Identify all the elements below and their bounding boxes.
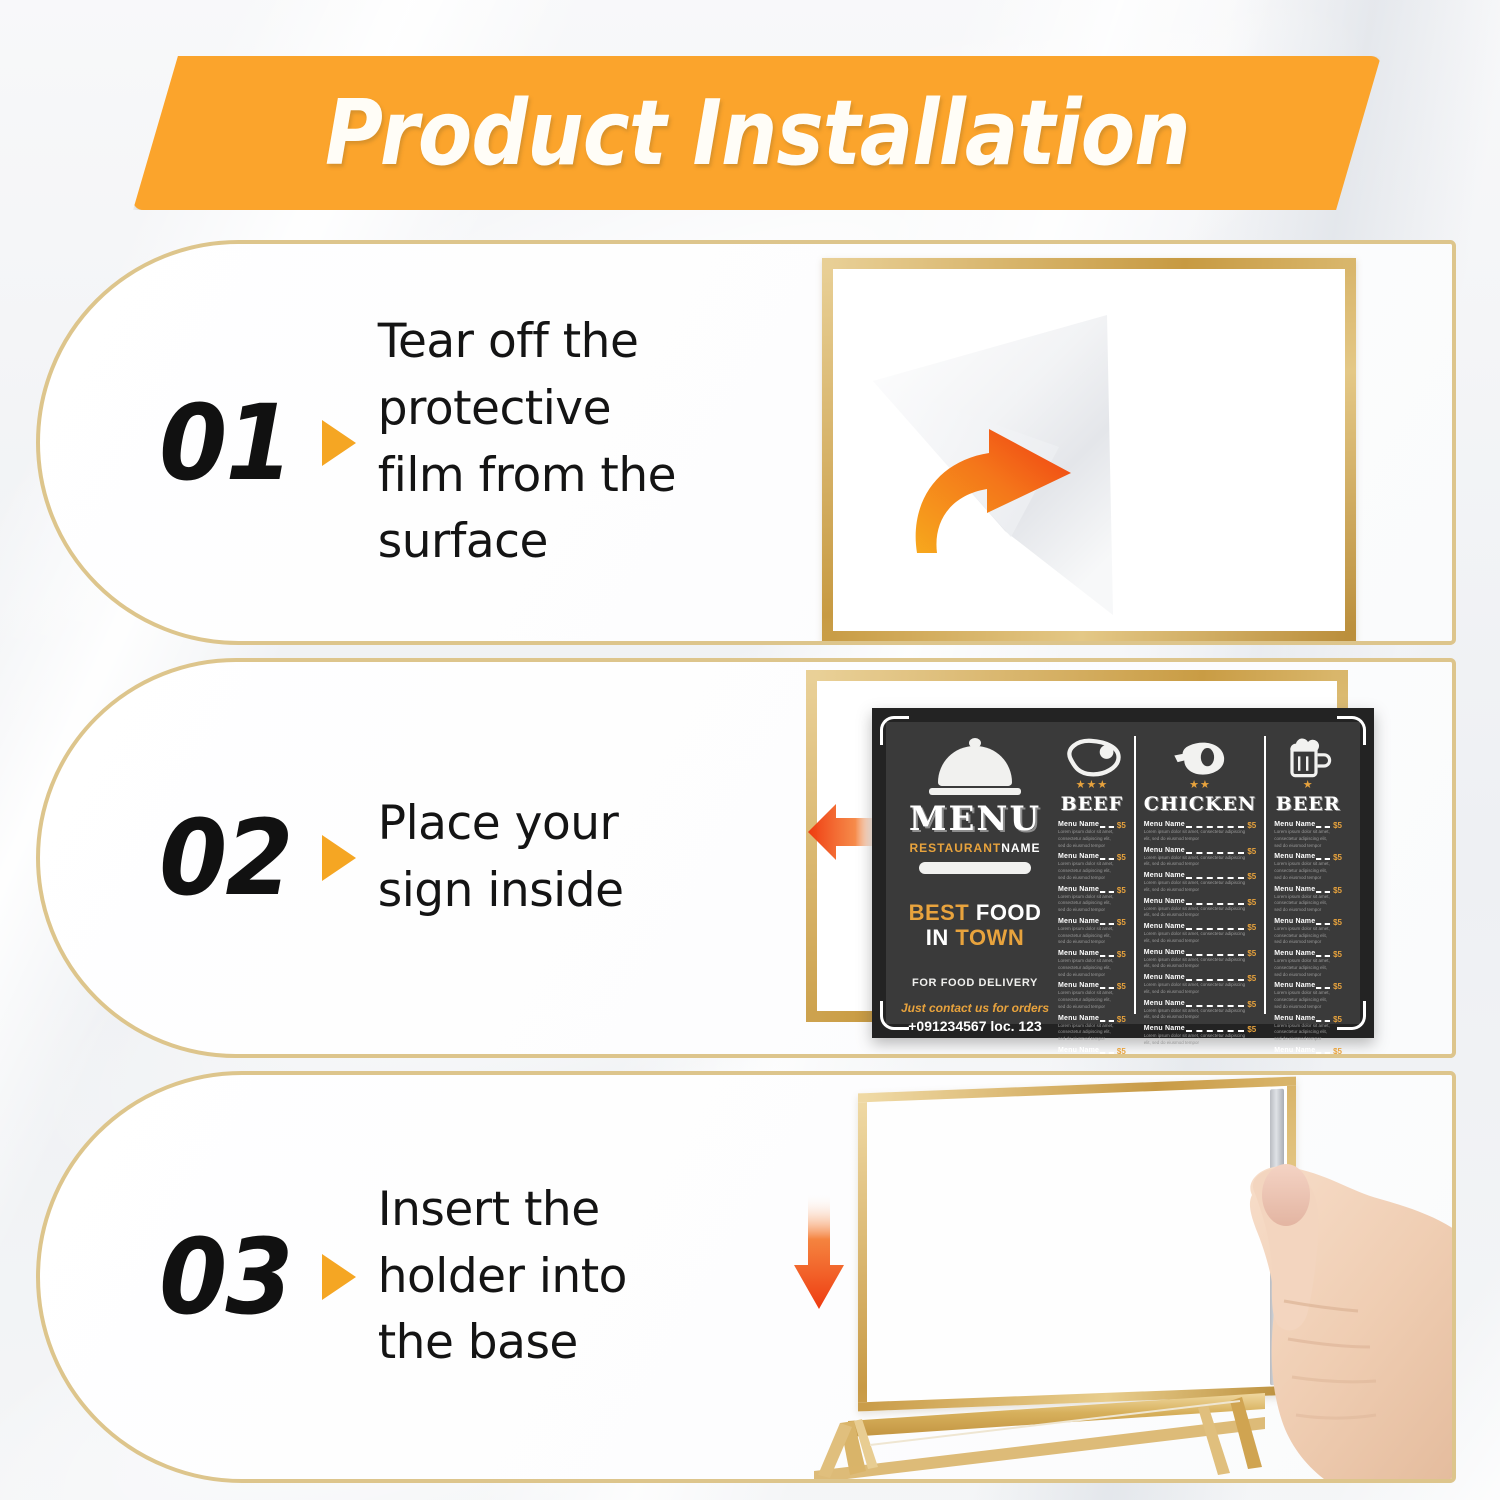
menu-columns: ★★★BEEFMenu NameLorem ipsum dolor sit am… (1050, 736, 1350, 1014)
menu-item-name: Menu Name (1274, 1047, 1315, 1054)
menu-item-price: $5 (1333, 821, 1342, 830)
menu-item-left: Menu NameLorem ipsum dolor sit amet, con… (1058, 982, 1117, 1010)
menu-item-left: Menu NameLorem ipsum dolor sit amet, con… (1144, 974, 1248, 996)
step-illustration-03 (800, 1075, 1452, 1479)
menu-item-price: $5 (1247, 847, 1256, 856)
menu-item-row: Menu NameLorem ipsum dolor sit amet, con… (1058, 950, 1126, 978)
menu-item-price: $5 (1247, 872, 1256, 881)
step-line: Place your (378, 791, 624, 858)
menu-item-left: Menu NameLorem ipsum dolor sit amet, con… (1144, 847, 1248, 869)
menu-item-row: Menu NameLorem ipsum dolor sit amet, con… (1144, 821, 1256, 843)
tagline-in: IN (926, 925, 949, 950)
tagline-food: FOOD (976, 900, 1042, 925)
triangle-marker-icon (322, 835, 356, 881)
step-panel-03: 03 Insert the holder into the base (36, 1071, 1456, 1483)
step-number: 02 (159, 806, 291, 910)
menu-item-name: Menu Name (1144, 847, 1185, 854)
rating-stars: ★★★ (1058, 780, 1126, 791)
menu-item-left: Menu NameLorem ipsum dolor sit amet, con… (1058, 918, 1117, 946)
menu-item-price: $5 (1117, 918, 1126, 927)
holder-base-stand (810, 1375, 1280, 1483)
dotted-leader (1100, 1015, 1114, 1022)
menu-item-left: Menu NameLorem ipsum dolor sit amet, con… (1144, 821, 1248, 843)
menu-item-left: Menu NameLorem ipsum dolor sit amet, con… (1274, 1047, 1333, 1058)
menu-item-left: Menu NameLorem ipsum dolor sit amet, con… (1058, 821, 1117, 849)
menu-item-price: $5 (1247, 923, 1256, 932)
dotted-leader (1186, 1025, 1244, 1032)
dotted-leader (1186, 949, 1244, 956)
menu-item-price: $5 (1117, 886, 1126, 895)
dotted-leader (1186, 821, 1244, 828)
curved-arrow-icon (903, 417, 1083, 557)
menu-item-left: Menu NameLorem ipsum dolor sit amet, con… (1274, 1015, 1333, 1043)
menu-item-left: Menu NameLorem ipsum dolor sit amet, con… (1274, 821, 1333, 849)
menu-item-row: Menu NameLorem ipsum dolor sit amet, con… (1144, 898, 1256, 920)
menu-item-price: $5 (1333, 982, 1342, 991)
step-text-block: 03 Insert the holder into the base (40, 1075, 800, 1479)
menu-item-row: Menu NameLorem ipsum dolor sit amet, con… (1058, 853, 1126, 881)
menu-card: MENU RESTAURANTNAME BEST FOOD IN TOWN FO… (872, 708, 1374, 1038)
menu-item-price: $5 (1247, 1000, 1256, 1009)
menu-item-left: Menu NameLorem ipsum dolor sit amet, con… (1274, 886, 1333, 914)
step-description: Place your sign inside (378, 791, 624, 924)
menu-item-price: $5 (1247, 898, 1256, 907)
menu-item-row: Menu NameLorem ipsum dolor sit amet, con… (1144, 1000, 1256, 1022)
menu-item-left: Menu NameLorem ipsum dolor sit amet, con… (1274, 853, 1333, 881)
step-panel-01: 01 Tear off the protective film from the… (36, 240, 1456, 645)
menu-item-price: $5 (1333, 1047, 1342, 1056)
corner-notch (1337, 1001, 1366, 1030)
ham-icon (1144, 736, 1256, 780)
menu-item-row: Menu NameLorem ipsum dolor sit amet, con… (1144, 1025, 1256, 1047)
corner-notch (880, 1001, 909, 1030)
delivery-note: FOR FOOD DELIVERY (900, 977, 1050, 989)
dotted-leader (1186, 974, 1244, 981)
menu-item-description: Lorem ipsum dolor sit amet, consectetur … (1144, 931, 1248, 945)
menu-item-left: Menu NameLorem ipsum dolor sit amet, con… (1058, 886, 1117, 914)
dotted-leader (1186, 872, 1244, 879)
menu-item-description: Lorem ipsum dolor sit amet, consectetur … (1274, 958, 1333, 978)
contact-note: Just contact us for orders (900, 1001, 1050, 1015)
menu-item-description: Lorem ipsum dolor sit amet, consectetur … (1144, 1008, 1248, 1022)
menu-item-left: Menu NameLorem ipsum dolor sit amet, con… (1058, 1047, 1117, 1058)
dotted-leader (1316, 886, 1330, 893)
steak-icon (1058, 736, 1126, 780)
menu-item-left: Menu NameLorem ipsum dolor sit amet, con… (1274, 918, 1333, 946)
menu-item-price: $5 (1247, 1025, 1256, 1034)
menu-item-row: Menu NameLorem ipsum dolor sit amet, con… (1274, 886, 1342, 914)
rating-stars: ★★ (1144, 780, 1256, 791)
menu-item-price: $5 (1117, 950, 1126, 959)
menu-item-description: Lorem ipsum dolor sit amet, consectetur … (1274, 1055, 1333, 1058)
menu-item-name: Menu Name (1058, 918, 1099, 925)
menu-item-price: $5 (1333, 886, 1342, 895)
menu-item-row: Menu NameLorem ipsum dolor sit amet, con… (1274, 821, 1342, 849)
menu-item-row: Menu NameLorem ipsum dolor sit amet, con… (1058, 918, 1126, 946)
menu-item-name: Menu Name (1144, 872, 1185, 879)
menu-item-description: Lorem ipsum dolor sit amet, consectetur … (1058, 958, 1117, 978)
menu-item-name: Menu Name (1144, 949, 1185, 956)
step-number: 03 (159, 1225, 291, 1329)
phone-number: +091234567 loc. 123 (900, 1018, 1050, 1034)
dotted-leader (1316, 950, 1330, 957)
menu-item-left: Menu NameLorem ipsum dolor sit amet, con… (1144, 1025, 1248, 1047)
step-illustration-02: MENU RESTAURANTNAME BEST FOOD IN TOWN FO… (800, 662, 1452, 1054)
triangle-marker-icon (322, 1254, 356, 1300)
triangle-marker-icon (322, 420, 356, 466)
menu-item-name: Menu Name (1144, 923, 1185, 930)
menu-item-left: Menu NameLorem ipsum dolor sit amet, con… (1274, 950, 1333, 978)
title-banner: Product Installation (133, 56, 1381, 210)
dotted-leader (1100, 853, 1114, 860)
menu-item-name: Menu Name (1144, 821, 1185, 828)
menu-item-name: Menu Name (1058, 1015, 1099, 1022)
beer-mug-icon (1274, 736, 1342, 780)
menu-item-name: Menu Name (1274, 1015, 1315, 1022)
page-title: Product Installation (325, 81, 1190, 186)
dotted-leader (1316, 1015, 1330, 1022)
menu-item-price: $5 (1247, 821, 1256, 830)
menu-column-title: CHICKEN (1144, 793, 1256, 815)
step-line: the base (378, 1310, 627, 1377)
menu-item-name: Menu Name (1144, 898, 1185, 905)
menu-item-description: Lorem ipsum dolor sit amet, consectetur … (1144, 855, 1248, 869)
tagline-town: TOWN (955, 925, 1024, 950)
step-number: 01 (159, 391, 291, 495)
menu-item-description: Lorem ipsum dolor sit amet, consectetur … (1274, 829, 1333, 849)
menu-item-name: Menu Name (1274, 950, 1315, 957)
step-line: Tear off the (378, 309, 676, 376)
down-arrow-icon (792, 1193, 846, 1313)
menu-item-price: $5 (1333, 853, 1342, 862)
step-line: surface (378, 509, 676, 576)
corner-notch (1337, 716, 1366, 745)
step-panel-02: 02 Place your sign inside ME (36, 658, 1456, 1058)
menu-item-row: Menu NameLorem ipsum dolor sit amet, con… (1274, 982, 1342, 1010)
menu-column: ★★CHICKENMenu NameLorem ipsum dolor sit … (1134, 736, 1264, 1014)
menu-item-row: Menu NameLorem ipsum dolor sit amet, con… (1144, 847, 1256, 869)
menu-item-description: Lorem ipsum dolor sit amet, consectetur … (1144, 957, 1248, 971)
tagline-best: BEST (909, 900, 970, 925)
menu-item-row: Menu NameLorem ipsum dolor sit amet, con… (1058, 821, 1126, 849)
ribbon-shape (919, 862, 1031, 874)
menu-item-row: Menu NameLorem ipsum dolor sit amet, con… (1058, 886, 1126, 914)
step-description: Insert the holder into the base (378, 1177, 627, 1377)
dotted-leader (1100, 982, 1114, 989)
dotted-leader (1186, 898, 1244, 905)
step-line: sign inside (378, 858, 624, 925)
menu-item-row: Menu NameLorem ipsum dolor sit amet, con… (1274, 918, 1342, 946)
dotted-leader (1316, 853, 1330, 860)
dotted-leader (1186, 923, 1244, 930)
rating-stars: ★ (1274, 780, 1342, 791)
menu-item-price: $5 (1333, 918, 1342, 927)
step-text-block: 02 Place your sign inside (40, 662, 800, 1054)
menu-item-description: Lorem ipsum dolor sit amet, consectetur … (1058, 1055, 1117, 1058)
menu-card-inner: MENU RESTAURANTNAME BEST FOOD IN TOWN FO… (886, 722, 1360, 1024)
restaurant-name: RESTAURANTNAME (900, 841, 1050, 855)
menu-item-name: Menu Name (1144, 1000, 1185, 1007)
menu-item-description: Lorem ipsum dolor sit amet, consectetur … (1274, 926, 1333, 946)
step-text-block: 01 Tear off the protective film from the… (40, 244, 800, 641)
menu-item-price: $5 (1333, 950, 1342, 959)
menu-item-name: Menu Name (1274, 982, 1315, 989)
menu-item-left: Menu NameLorem ipsum dolor sit amet, con… (1144, 923, 1248, 945)
dotted-leader (1186, 1000, 1244, 1007)
menu-item-left: Menu NameLorem ipsum dolor sit amet, con… (1058, 950, 1117, 978)
menu-item-left: Menu NameLorem ipsum dolor sit amet, con… (1058, 1015, 1117, 1043)
menu-item-description: Lorem ipsum dolor sit amet, consectetur … (1144, 829, 1248, 843)
dotted-leader (1316, 821, 1330, 828)
menu-item-row: Menu NameLorem ipsum dolor sit amet, con… (1144, 872, 1256, 894)
menu-item-description: Lorem ipsum dolor sit amet, consectetur … (1274, 1023, 1333, 1043)
menu-item-name: Menu Name (1058, 853, 1099, 860)
menu-item-description: Lorem ipsum dolor sit amet, consectetur … (1058, 829, 1117, 849)
step-illustration-01 (800, 244, 1452, 641)
dotted-leader (1186, 847, 1244, 854)
dotted-leader (1100, 950, 1114, 957)
menu-item-row: Menu NameLorem ipsum dolor sit amet, con… (1058, 1047, 1126, 1058)
menu-item-price: $5 (1117, 982, 1126, 991)
menu-column: ★★★BEEFMenu NameLorem ipsum dolor sit am… (1050, 736, 1134, 1014)
menu-item-name: Menu Name (1274, 886, 1315, 893)
menu-item-description: Lorem ipsum dolor sit amet, consectetur … (1144, 1033, 1248, 1047)
menu-item-description: Lorem ipsum dolor sit amet, consectetur … (1058, 926, 1117, 946)
menu-item-left: Menu NameLorem ipsum dolor sit amet, con… (1058, 853, 1117, 881)
menu-header: MENU RESTAURANTNAME BEST FOOD IN TOWN FO… (900, 736, 1050, 1014)
menu-item-name: Menu Name (1144, 1025, 1185, 1032)
menu-item-row: Menu NameLorem ipsum dolor sit amet, con… (1058, 1015, 1126, 1043)
menu-item-description: Lorem ipsum dolor sit amet, consectetur … (1144, 982, 1248, 996)
menu-item-name: Menu Name (1144, 974, 1185, 981)
dotted-leader (1100, 821, 1114, 828)
menu-item-description: Lorem ipsum dolor sit amet, consectetur … (1274, 990, 1333, 1010)
step-line: Insert the (378, 1177, 627, 1244)
menu-item-name: Menu Name (1058, 1047, 1099, 1054)
menu-item-description: Lorem ipsum dolor sit amet, consectetur … (1058, 894, 1117, 914)
menu-column-title: BEEF (1058, 793, 1126, 815)
menu-tagline: BEST FOOD IN TOWN (900, 900, 1050, 951)
menu-title: MENU (900, 802, 1050, 836)
menu-item-name: Menu Name (1058, 950, 1099, 957)
menu-column-title: BEER (1274, 793, 1342, 815)
menu-item-left: Menu NameLorem ipsum dolor sit amet, con… (1274, 982, 1333, 1010)
menu-item-row: Menu NameLorem ipsum dolor sit amet, con… (1144, 974, 1256, 996)
menu-item-name: Menu Name (1058, 982, 1099, 989)
menu-item-name: Menu Name (1058, 821, 1099, 828)
menu-item-price: $5 (1117, 853, 1126, 862)
menu-item-name: Menu Name (1058, 886, 1099, 893)
menu-item-description: Lorem ipsum dolor sit amet, consectetur … (1144, 906, 1248, 920)
menu-item-name: Menu Name (1274, 853, 1315, 860)
step-line: film from the (378, 443, 676, 510)
menu-item-name: Menu Name (1274, 821, 1315, 828)
hand-icon (1230, 1133, 1456, 1483)
restaurant-name-prefix: RESTAURANT (909, 841, 1001, 855)
menu-item-description: Lorem ipsum dolor sit amet, consectetur … (1058, 1023, 1117, 1043)
menu-item-left: Menu NameLorem ipsum dolor sit amet, con… (1144, 949, 1248, 971)
step-description: Tear off the protective film from the su… (378, 309, 676, 576)
cloche-icon (938, 746, 1012, 786)
dotted-leader (1100, 918, 1114, 925)
step-line: protective (378, 376, 676, 443)
menu-item-row: Menu NameLorem ipsum dolor sit amet, con… (1274, 950, 1342, 978)
menu-item-left: Menu NameLorem ipsum dolor sit amet, con… (1144, 898, 1248, 920)
dotted-leader (1100, 1047, 1114, 1054)
menu-item-row: Menu NameLorem ipsum dolor sit amet, con… (1274, 1047, 1342, 1058)
menu-item-description: Lorem ipsum dolor sit amet, consectetur … (1274, 861, 1333, 881)
gold-frame-icon (822, 258, 1356, 642)
menu-item-row: Menu NameLorem ipsum dolor sit amet, con… (1274, 853, 1342, 881)
restaurant-name-suffix: NAME (1001, 841, 1040, 855)
menu-item-left: Menu NameLorem ipsum dolor sit amet, con… (1144, 1000, 1248, 1022)
dotted-leader (1316, 1047, 1330, 1054)
menu-item-price: $5 (1117, 1015, 1126, 1024)
menu-item-price: $5 (1117, 821, 1126, 830)
menu-item-row: Menu NameLorem ipsum dolor sit amet, con… (1274, 1015, 1342, 1043)
menu-item-name: Menu Name (1274, 918, 1315, 925)
menu-item-price: $5 (1247, 949, 1256, 958)
menu-item-row: Menu NameLorem ipsum dolor sit amet, con… (1144, 949, 1256, 971)
menu-item-left: Menu NameLorem ipsum dolor sit amet, con… (1144, 872, 1248, 894)
corner-notch (880, 716, 909, 745)
menu-item-row: Menu NameLorem ipsum dolor sit amet, con… (1144, 923, 1256, 945)
dotted-leader (1100, 886, 1114, 893)
menu-item-price: $5 (1117, 1047, 1126, 1056)
dotted-leader (1316, 918, 1330, 925)
menu-item-description: Lorem ipsum dolor sit amet, consectetur … (1058, 861, 1117, 881)
menu-column: ★BEERMenu NameLorem ipsum dolor sit amet… (1264, 736, 1350, 1014)
menu-item-description: Lorem ipsum dolor sit amet, consectetur … (1058, 990, 1117, 1010)
menu-item-price: $5 (1247, 974, 1256, 983)
dotted-leader (1316, 982, 1330, 989)
step-line: holder into (378, 1244, 627, 1311)
menu-item-description: Lorem ipsum dolor sit amet, consectetur … (1274, 894, 1333, 914)
menu-item-row: Menu NameLorem ipsum dolor sit amet, con… (1058, 982, 1126, 1010)
menu-item-description: Lorem ipsum dolor sit amet, consectetur … (1144, 880, 1248, 894)
